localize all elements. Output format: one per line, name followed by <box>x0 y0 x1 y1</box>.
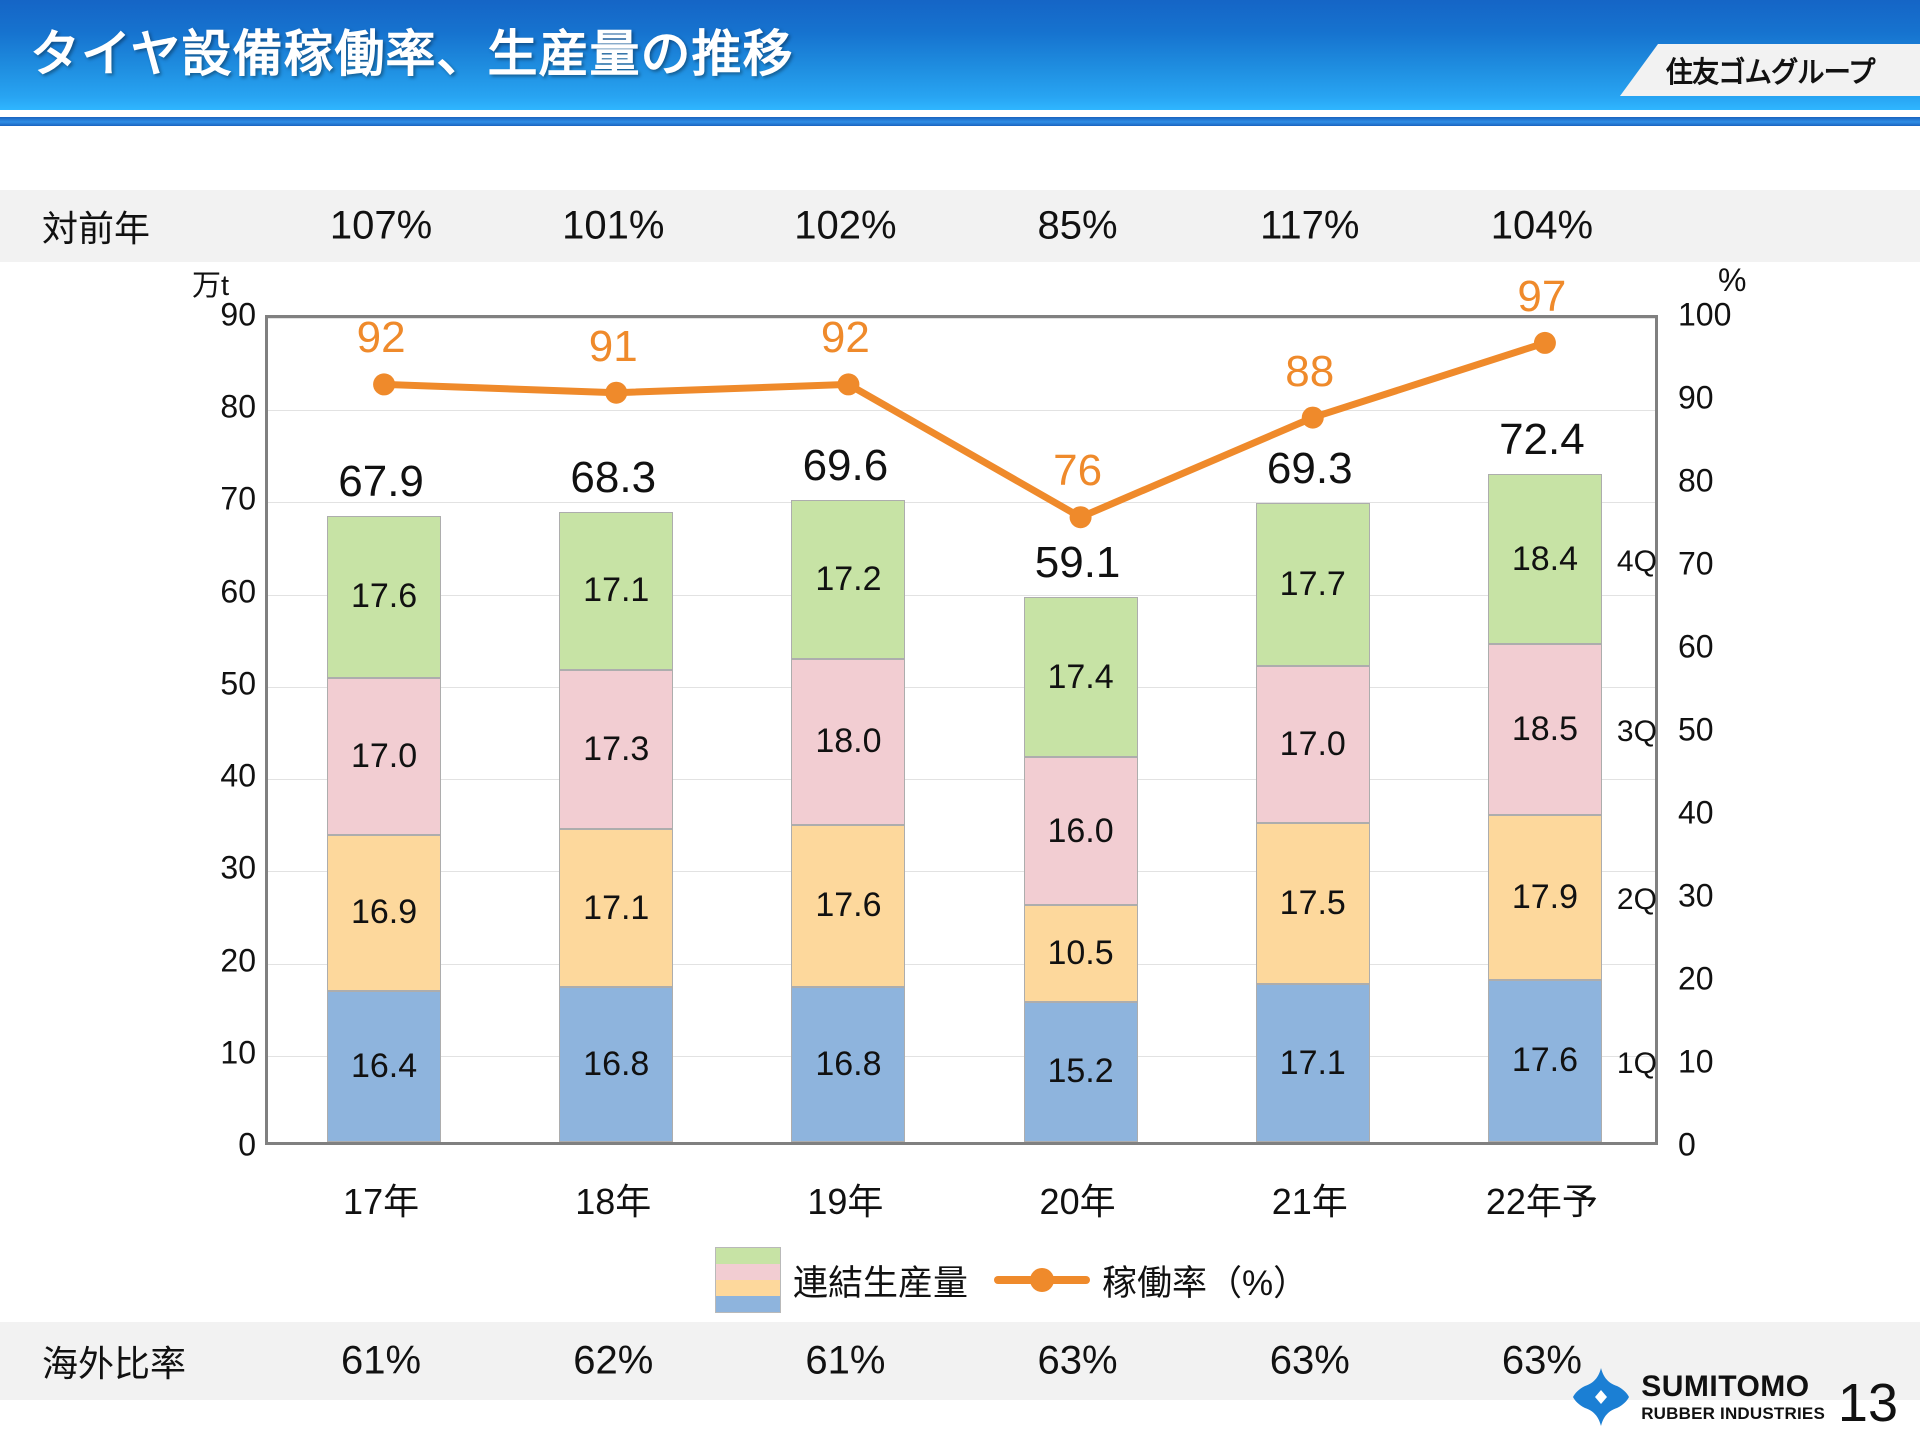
overseas-ratio-value: 61% <box>805 1339 885 1384</box>
gridline <box>268 871 1655 872</box>
bar-segment-1q[interactable]: 16.8 <box>791 987 905 1142</box>
y-axis-tick-left: 40 <box>220 758 256 795</box>
quarter-label-3q: 3Q <box>1617 715 1657 749</box>
y-axis-tick-right: 30 <box>1678 878 1714 915</box>
bar-total-label: 72.4 <box>1499 415 1585 465</box>
bar-segment-2q[interactable]: 10.5 <box>1024 905 1138 1002</box>
title-rule-2 <box>0 117 1920 126</box>
sumitomo-diamond-icon <box>1573 1368 1629 1426</box>
y-axis-tick-right: 10 <box>1678 1044 1714 1081</box>
legend-swatch-q3 <box>716 1264 780 1280</box>
gridline <box>268 318 1655 319</box>
bar-segment-2q[interactable]: 16.9 <box>327 835 441 991</box>
bar-segment-3q[interactable]: 17.0 <box>1256 666 1370 823</box>
bar-segment-2q[interactable]: 17.6 <box>791 825 905 987</box>
bar-segment-1q[interactable]: 16.8 <box>559 987 673 1142</box>
bar-segment-3q[interactable]: 16.0 <box>1024 757 1138 905</box>
y-axis-tick-right: 0 <box>1678 1127 1696 1164</box>
overseas-ratio-value: 63% <box>1270 1339 1350 1384</box>
legend-label-bars: 連結生産量 <box>793 1255 968 1306</box>
bar-segment-4q[interactable]: 17.4 <box>1024 597 1138 757</box>
gridline <box>268 779 1655 780</box>
legend-swatch-q1 <box>716 1296 780 1312</box>
overseas-ratio-band-label: 海外比率 <box>42 1335 186 1387</box>
y-axis-tick-right: 20 <box>1678 961 1714 998</box>
bar-total-label: 68.3 <box>570 453 656 503</box>
bar-segment-3q[interactable]: 18.5 <box>1488 644 1602 815</box>
logo-line-1: SUMITOMO <box>1641 1372 1825 1402</box>
logo-line-2: RUBBER INDUSTRIES <box>1641 1405 1825 1422</box>
x-axis-label: 20年 <box>1040 1173 1116 1225</box>
bar-segment-2q[interactable]: 17.9 <box>1488 815 1602 980</box>
bar-segment-1q[interactable]: 15.2 <box>1024 1002 1138 1142</box>
bar-segment-2q[interactable]: 17.1 <box>559 829 673 987</box>
bar-segment-1q[interactable]: 16.4 <box>327 991 441 1142</box>
plot-area: 16.416.917.017.616.817.117.317.116.817.6… <box>265 315 1658 1145</box>
gridline <box>268 687 1655 688</box>
legend-swatch-q2 <box>716 1280 780 1296</box>
legend-swatch-q4 <box>716 1248 780 1264</box>
yoy-value: 102% <box>794 204 896 249</box>
legend-swatch-bars <box>715 1247 781 1313</box>
brand-tab-label: 住友ゴムグループ <box>1666 49 1875 91</box>
bar-segment-4q[interactable]: 17.2 <box>791 500 905 659</box>
gridline <box>268 964 1655 965</box>
yoy-value: 85% <box>1038 204 1118 249</box>
yoy-value: 104% <box>1491 204 1593 249</box>
yoy-value: 101% <box>562 204 664 249</box>
logo-wordmark: SUMITOMO RUBBER INDUSTRIES <box>1641 1372 1825 1422</box>
legend-line-dot <box>1030 1268 1054 1292</box>
overseas-ratio-value: 63% <box>1038 1339 1118 1384</box>
y-axis-tick-right: 60 <box>1678 629 1714 666</box>
y-axis-tick-right: 70 <box>1678 546 1714 583</box>
quarter-label-4q: 4Q <box>1617 545 1657 579</box>
yoy-band-label: 対前年 <box>42 200 150 252</box>
y-axis-tick-left: 10 <box>220 1034 256 1071</box>
title-rule-1 <box>0 110 1920 117</box>
y-axis-tick-right: 90 <box>1678 380 1714 417</box>
gridline <box>268 595 1655 596</box>
bar-segment-3q[interactable]: 17.0 <box>327 678 441 835</box>
y-axis-tick-left: 30 <box>220 850 256 887</box>
bar-segment-4q[interactable]: 17.7 <box>1256 503 1370 666</box>
bar-segment-4q[interactable]: 17.6 <box>327 516 441 678</box>
yoy-band: 対前年 107%101%102%85%117%104% <box>0 190 1920 262</box>
y-axis-tick-right: 80 <box>1678 463 1714 500</box>
overseas-ratio-value: 61% <box>341 1339 421 1384</box>
right-axis-unit: % <box>1718 262 1746 299</box>
line-value-label: 91 <box>589 322 638 372</box>
bar-segment-1q[interactable]: 17.1 <box>1256 984 1370 1142</box>
overseas-ratio-value: 63% <box>1502 1339 1582 1384</box>
brand-tab: 住友ゴムグループ <box>1620 44 1920 96</box>
y-axis-tick-left: 60 <box>220 573 256 610</box>
bar-total-label: 69.3 <box>1267 444 1353 494</box>
bar-segment-2q[interactable]: 17.5 <box>1256 823 1370 984</box>
y-axis-tick-right: 100 <box>1678 297 1731 334</box>
bar-segment-3q[interactable]: 17.3 <box>559 670 673 830</box>
utilisation-rate-line <box>268 318 1661 1148</box>
y-axis-tick-right: 50 <box>1678 712 1714 749</box>
x-axis-label: 19年 <box>807 1173 883 1225</box>
y-axis-tick-left: 20 <box>220 942 256 979</box>
chart-legend: 連結生産量 稼働率（%） <box>715 1247 1308 1313</box>
x-axis-label: 18年 <box>575 1173 651 1225</box>
y-axis-tick-left: 80 <box>220 389 256 426</box>
gridline <box>268 502 1655 503</box>
x-axis-label: 22年予 <box>1486 1173 1598 1225</box>
bar-stack[interactable]: 15.210.516.017.4 <box>1024 312 1138 1142</box>
x-axis-label: 17年 <box>343 1173 419 1225</box>
legend-marker-line <box>994 1265 1090 1295</box>
line-value-label: 97 <box>1517 272 1566 322</box>
bar-total-label: 59.1 <box>1035 538 1121 588</box>
yoy-value: 107% <box>330 204 432 249</box>
y-axis-tick-right: 40 <box>1678 795 1714 832</box>
bar-stack[interactable]: 16.817.117.317.1 <box>559 312 673 1142</box>
overseas-ratio-value: 62% <box>573 1339 653 1384</box>
line-value-label: 76 <box>1053 446 1102 496</box>
y-axis-tick-left: 90 <box>220 297 256 334</box>
gridline <box>268 410 1655 411</box>
company-logo: SUMITOMO RUBBER INDUSTRIES <box>1573 1368 1825 1426</box>
quarter-label-1q: 1Q <box>1617 1047 1657 1081</box>
yoy-value: 117% <box>1260 204 1359 249</box>
chart-container: 万t % 16.416.917.017.616.817.117.317.116.… <box>0 262 1920 1322</box>
bar-segment-4q[interactable]: 17.1 <box>559 512 673 670</box>
line-value-label: 92 <box>821 313 870 363</box>
bar-total-label: 67.9 <box>338 457 424 507</box>
bar-stack[interactable]: 16.817.618.017.2 <box>791 312 905 1142</box>
gridline <box>268 1056 1655 1057</box>
bar-stack[interactable]: 16.416.917.017.6 <box>327 312 441 1142</box>
bar-segment-4q[interactable]: 18.4 <box>1488 474 1602 644</box>
line-value-label: 92 <box>357 313 406 363</box>
legend-label-line: 稼働率（%） <box>1102 1255 1308 1306</box>
y-axis-tick-left: 0 <box>238 1127 256 1164</box>
y-axis-tick-left: 50 <box>220 665 256 702</box>
bar-segment-3q[interactable]: 18.0 <box>791 659 905 825</box>
x-axis-label: 21年 <box>1272 1173 1348 1225</box>
line-value-label: 88 <box>1285 347 1334 397</box>
quarter-label-2q: 2Q <box>1617 883 1657 917</box>
bar-total-label: 69.6 <box>803 441 889 491</box>
title-rule-3 <box>0 126 1920 130</box>
page-title: タイヤ設備稼働率、生産量の推移 <box>30 14 794 86</box>
y-axis-tick-left: 70 <box>220 481 256 518</box>
page-number: 13 <box>1838 1372 1898 1434</box>
bar-stack[interactable]: 17.117.517.017.7 <box>1256 312 1370 1142</box>
bar-segment-1q[interactable]: 17.6 <box>1488 980 1602 1142</box>
